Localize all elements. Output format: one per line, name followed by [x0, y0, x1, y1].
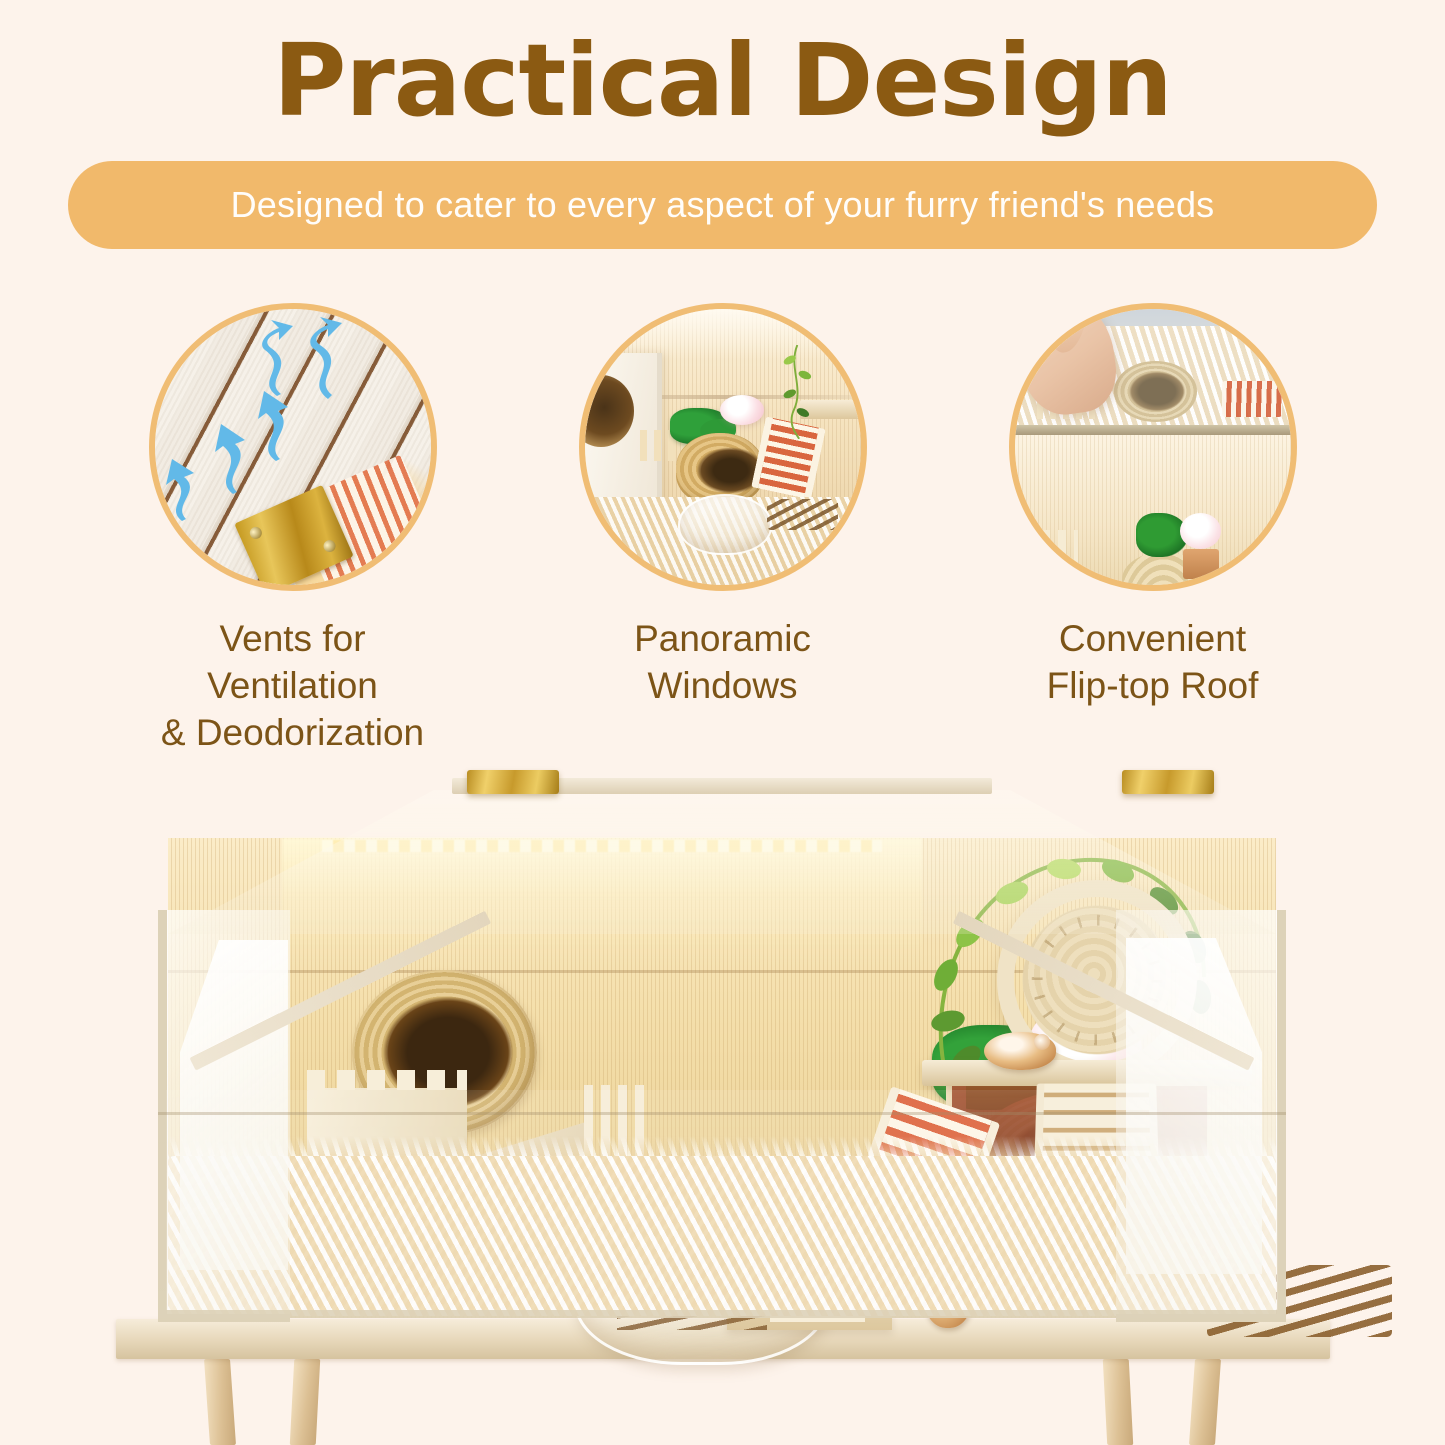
airflow-arrow-icon	[298, 315, 346, 401]
feature-ventilation: Vents for Ventilation & Deodorization	[149, 303, 437, 756]
page-title: Practical Design	[0, 22, 1445, 140]
brass-hinge-icon	[1122, 770, 1214, 794]
roof-edge	[1015, 425, 1291, 435]
cage-leg	[290, 1359, 321, 1445]
wood-shavings-bedding	[168, 1156, 1276, 1316]
led-light-glow	[585, 309, 861, 359]
brass-hinge-icon	[467, 770, 559, 794]
airflow-arrow-icon	[248, 381, 296, 463]
cage-leg	[204, 1359, 236, 1445]
feature-row: Vents for Ventilation & Deodorization	[0, 303, 1445, 756]
acrylic-roof-pane	[168, 790, 1276, 940]
clear-dome-hideout	[678, 494, 772, 555]
feature-image-ventilation	[149, 303, 437, 591]
pink-flower	[720, 395, 764, 425]
subtitle-text: Designed to cater to every aspect of you…	[231, 184, 1215, 226]
feature-caption-ventilation: Vents for Ventilation & Deodorization	[149, 615, 437, 756]
woven-nest	[1114, 361, 1197, 422]
feature-image-flip-top-roof	[1009, 303, 1297, 591]
white-fence	[1026, 530, 1078, 580]
feature-image-panoramic-windows	[579, 303, 867, 591]
red-rung-ladder	[1222, 381, 1283, 417]
feature-caption-flip-top-roof: Convenient Flip-top Roof	[1047, 615, 1259, 709]
feature-caption-panoramic-windows: Panoramic Windows	[634, 615, 811, 709]
cage-leg	[1103, 1359, 1134, 1445]
front-glass-seam	[158, 1112, 1286, 1115]
cage-body	[122, 760, 1322, 1360]
feature-flip-top-roof: Convenient Flip-top Roof	[1009, 303, 1297, 756]
vine-icon	[778, 345, 817, 439]
airflow-arrow-icon	[207, 414, 253, 496]
airflow-arrow-icon	[160, 453, 204, 523]
hamster	[984, 1032, 1056, 1070]
flower-pot	[1183, 549, 1219, 579]
cage-leg	[1189, 1359, 1221, 1445]
feature-panoramic-windows: Panoramic Windows	[579, 303, 867, 756]
product-photo	[0, 748, 1445, 1445]
chew-sticks	[767, 499, 839, 529]
subtitle-banner: Designed to cater to every aspect of you…	[68, 161, 1377, 249]
